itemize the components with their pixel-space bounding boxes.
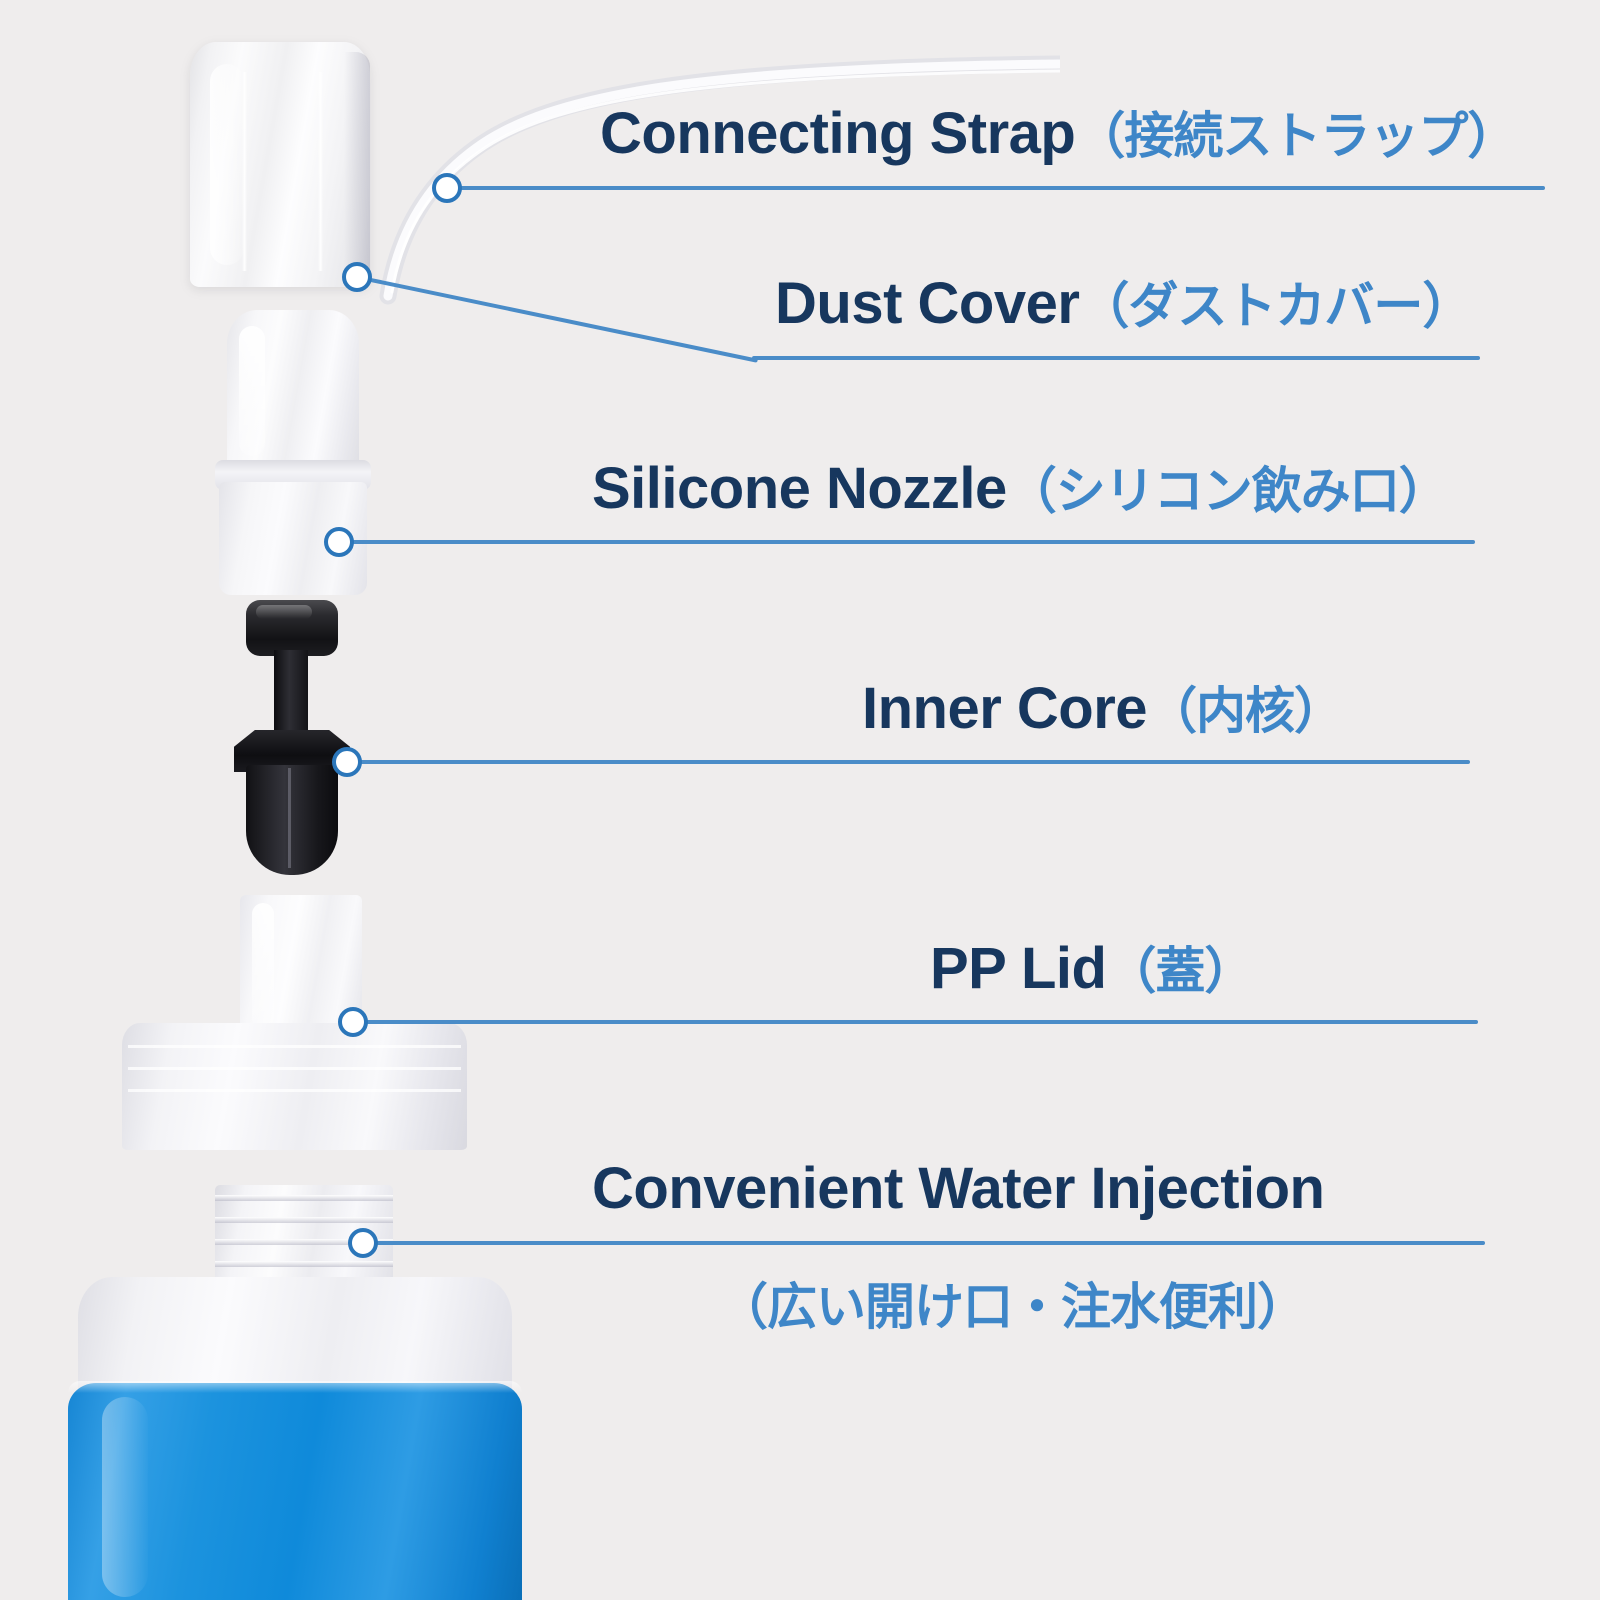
callout-en-pp-lid: PP Lid (930, 936, 1106, 1001)
leader-line-silicone-nozzle (348, 540, 1475, 544)
bottle-mouth-icon (60, 1185, 530, 1600)
callout-label-inner-core: Inner Core（内核） (862, 680, 1343, 738)
marker-dust-cover (342, 262, 372, 292)
callout-jp-pp-lid: （蓋） (1106, 943, 1253, 999)
callout-jp-connecting-strap: （接続ストラップ） (1075, 108, 1516, 164)
callout-en-water-injection: Convenient Water Injection (592, 1156, 1324, 1221)
marker-silicone-nozzle (324, 527, 354, 557)
marker-connecting-strap (432, 173, 462, 203)
leader-line-inner-core (356, 760, 1470, 764)
callout-jp-inner-core: （内核） (1147, 683, 1343, 739)
callout-en-silicone-nozzle: Silicone Nozzle (592, 456, 1007, 521)
callout-sublabel-water-injection: （広い開け口・注水便利） (718, 1282, 1306, 1332)
silicone-nozzle-icon (205, 310, 380, 595)
inner-core-icon (232, 600, 352, 875)
callout-jp-water-injection: （広い開け口・注水便利） (718, 1282, 1306, 1332)
leader-line-connecting-strap (455, 186, 1545, 190)
marker-inner-core (332, 747, 362, 777)
marker-water-injection (348, 1228, 378, 1258)
callout-jp-dust-cover: （ダストカバー） (1079, 278, 1471, 334)
callout-en-dust-cover: Dust Cover (775, 271, 1079, 336)
callout-label-water-injection: Convenient Water Injection (592, 1160, 1324, 1218)
dust-cover-icon (190, 42, 370, 287)
callout-jp-silicone-nozzle: （シリコン飲み口） (1007, 463, 1448, 519)
marker-pp-lid (338, 1007, 368, 1037)
leader-line-dust-cover (752, 356, 1480, 360)
callout-en-inner-core: Inner Core (862, 676, 1147, 741)
callout-label-silicone-nozzle: Silicone Nozzle（シリコン飲み口） (592, 460, 1448, 518)
callout-label-dust-cover: Dust Cover（ダストカバー） (775, 275, 1471, 333)
callout-en-connecting-strap: Connecting Strap (600, 101, 1075, 166)
leader-line-water-injection (372, 1241, 1485, 1245)
callout-label-connecting-strap: Connecting Strap（接続ストラップ） (600, 105, 1516, 163)
callout-label-pp-lid: PP Lid（蓋） (930, 940, 1253, 998)
product-parts-diagram: Connecting Strap（接続ストラップ） Dust Cover（ダスト… (0, 0, 1600, 1600)
leader-line-pp-lid (362, 1020, 1478, 1024)
